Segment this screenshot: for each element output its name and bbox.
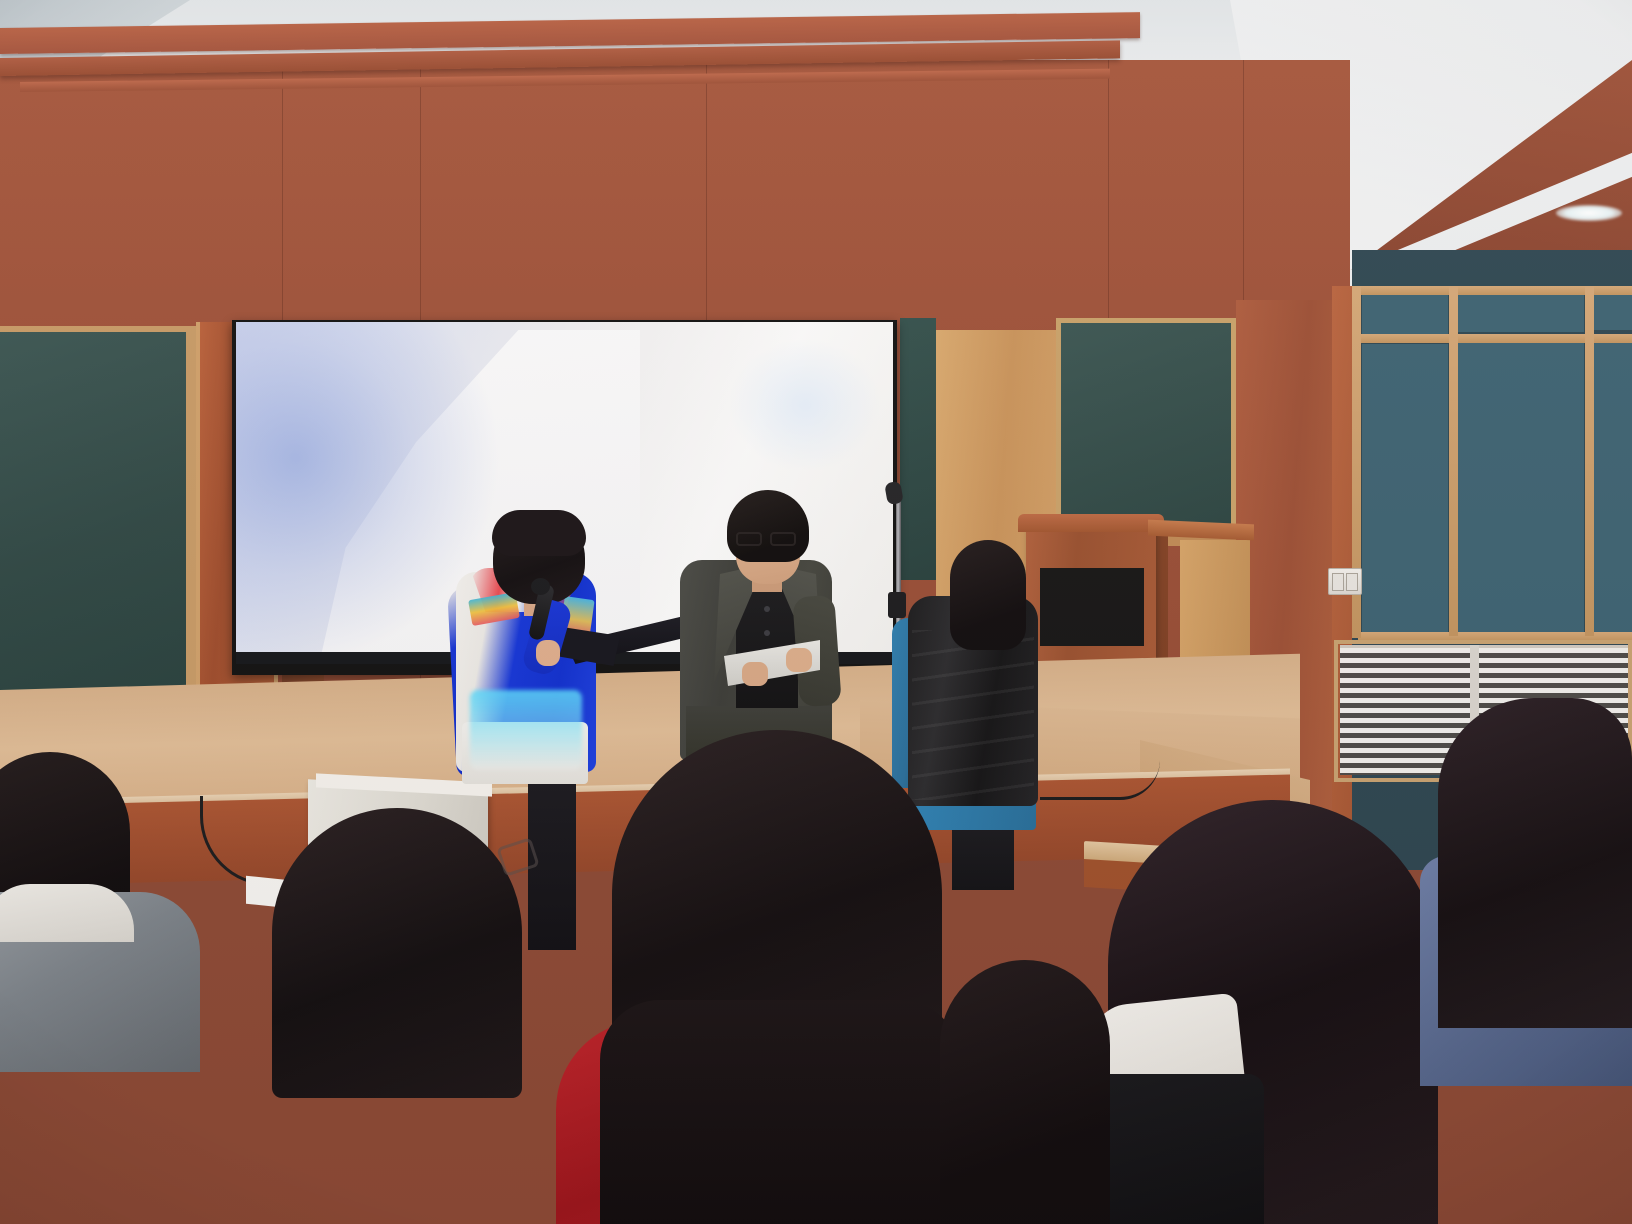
presenter-hair — [727, 490, 809, 562]
audience-member-3-hair-overlay — [600, 1000, 960, 1224]
microphone-stand-clamp — [888, 592, 906, 618]
podium-front-panel — [1040, 568, 1144, 646]
audience-member-6 — [940, 960, 1110, 1224]
host-jacket-light-glow — [470, 690, 582, 770]
left-chalkboard — [0, 332, 186, 704]
presenter-hand-right — [786, 648, 812, 672]
auditorium-photo — [0, 0, 1632, 1224]
host-hand — [536, 640, 560, 666]
ceiling-light-icon — [1556, 205, 1622, 221]
microphone-head-icon — [531, 578, 550, 595]
host-hair-front — [492, 510, 586, 556]
right-chalkboard-edge — [900, 318, 936, 580]
presenter-eyeglasses-right — [770, 532, 796, 546]
podium-top — [1018, 514, 1164, 532]
light-switch-plate[interactable] — [1328, 568, 1362, 595]
audience-member-1-collar — [0, 884, 134, 942]
presenter-eyeglasses-left — [736, 532, 762, 546]
audience-member-2 — [272, 808, 522, 1098]
audience-member-5 — [1438, 698, 1632, 1028]
attendee-puffer-quilting — [912, 630, 1034, 800]
projector-hotspot — [730, 340, 880, 470]
right-chalkboard — [1056, 318, 1236, 538]
attendee-hair — [950, 540, 1026, 650]
presenter-hand-left — [742, 662, 768, 686]
